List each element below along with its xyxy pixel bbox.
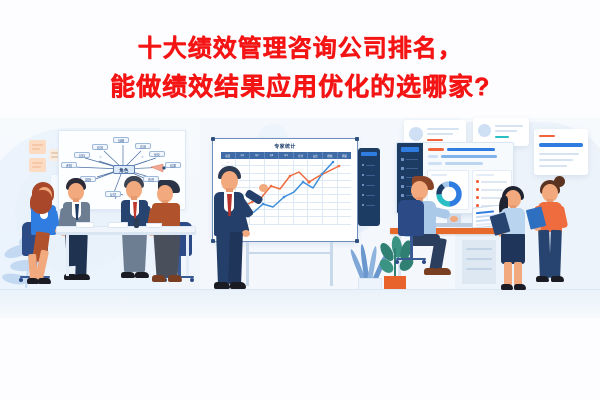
progress-bar [445,162,483,165]
side-nav-logo [361,152,377,156]
card-line-accent [539,135,555,137]
sticky-note-1 [29,140,46,154]
title-line-2: 能做绩效结果应用优化的选哪家? [0,68,600,106]
table-cup [134,218,139,228]
mindmap-node-3: 考核 [61,162,77,168]
paper-3 [146,223,162,228]
card-line [427,133,453,135]
paper-1 [76,222,94,228]
board-crossbar [246,252,332,254]
poster-title: 十大绩效管理咨询公司排名， 能做绩效结果应用优化的选哪家? [0,30,600,106]
progress-bar [441,155,497,158]
form-card[interactable] [534,129,588,175]
card-line [539,165,567,167]
card-line-accent [495,136,509,138]
side-nav-panel[interactable] [358,148,380,226]
card-line-accent [427,139,443,141]
avatar [478,124,491,137]
card-line [539,153,579,155]
drawer-cabinet [462,240,496,284]
poster-canvas: 十大绩效管理咨询公司排名， 能做绩效结果应用优化的选哪家? [0,0,600,400]
board-stand-left [246,242,249,286]
mindmap-node-9: 改进 [143,176,159,182]
paper-2 [108,222,128,228]
dashboard-label [428,155,438,158]
mindmap-node-6: 应用 [135,143,151,149]
chair-desk-back [398,200,424,236]
card-line [495,125,523,127]
board-pin-tl [211,137,215,141]
progress-bar [447,148,495,151]
board-pin-bl [211,239,215,243]
card-line [427,128,459,130]
title-line-1: 十大绩效管理咨询公司排名， [0,30,600,68]
mindmap-node-5: 反馈 [105,191,121,197]
sticky-note-2 [29,158,46,172]
table-leg-right [186,234,189,276]
floor [0,290,600,318]
meeting-table-edge [56,232,196,235]
donut-chart [432,179,466,209]
svg-text:②: ② [141,155,144,159]
card-line [539,159,573,161]
chart-title: 专家统计 [213,143,357,150]
card-line [495,130,517,132]
dashboard-tag [428,148,444,151]
mindmap-node-1: 绩效 [92,144,108,150]
board-stand-right [330,242,333,286]
dashboard-logo [401,147,419,152]
mindmap-node-0: 战略 [113,137,129,143]
mindmap-node-8: 结果 [165,162,181,168]
chair-desk-stem [410,236,413,260]
chair-wheel [422,260,426,264]
chair-wheel [190,278,194,282]
mindmap-center-node: 角色 [113,165,135,174]
card-progress [539,143,583,147]
office-illustration: ① ② 角色 战略 绩效 目标 考核 激励 反馈 应用 优化 结果 改进 专家统… [0,118,600,318]
dashboard-label [428,162,442,165]
svg-text:①: ① [99,155,102,159]
mindmap-node-7: 优化 [149,151,165,157]
chair-wheel [395,260,399,264]
mindmap-node-2: 目标 [74,152,90,158]
avatar [409,127,423,141]
board-pin-tr [355,137,359,141]
board-pin-br [355,239,359,243]
chair-wheel [19,278,23,282]
table-leg-left [66,234,69,276]
